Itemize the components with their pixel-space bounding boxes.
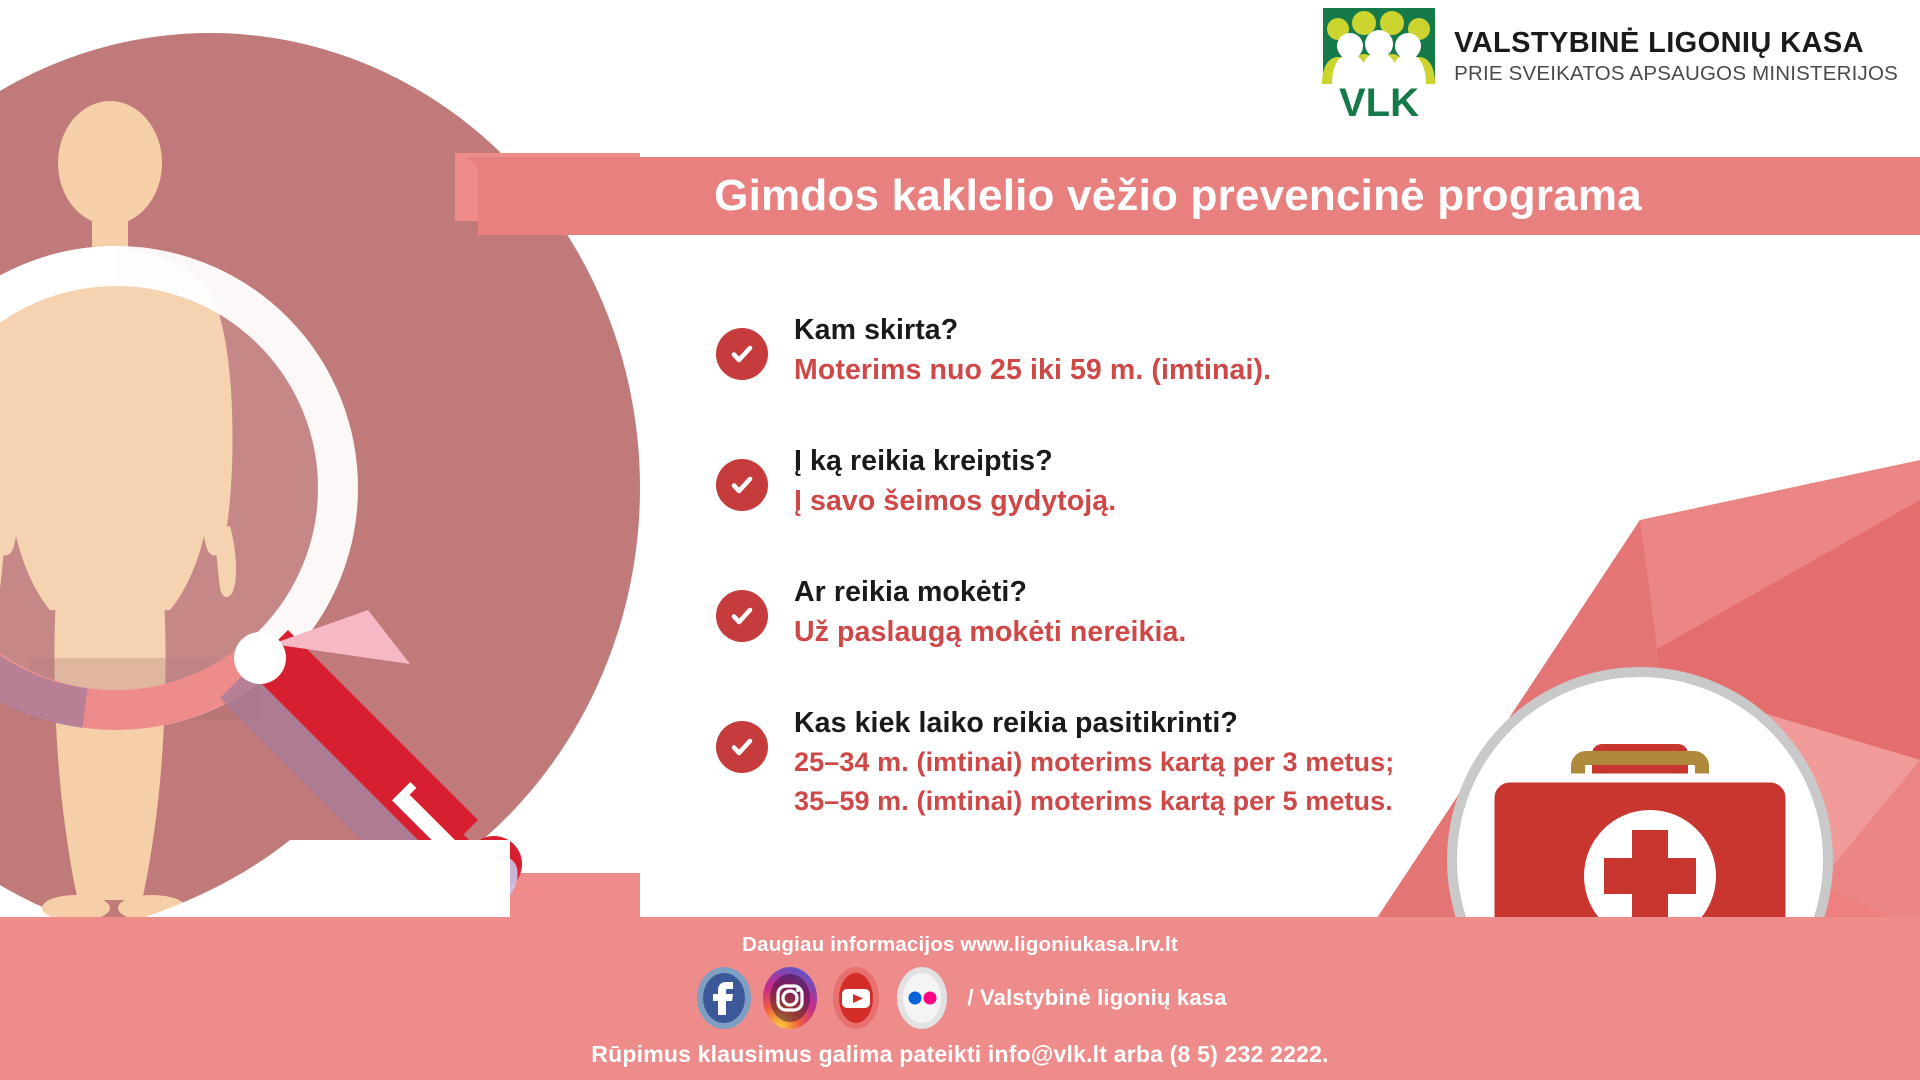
page-title: Gimdos kaklelio vėžio prevencinė program… [478,157,1878,235]
item-question: Į ką reikia kreiptis? [794,441,1836,481]
logo-subtitle: PRIE SVEIKATOS APSAUGOS MINISTERIJOS [1454,61,1898,87]
info-list: Kam skirta? Moterims nuo 25 iki 59 m. (i… [716,310,1836,820]
item-question: Kam skirta? [794,310,1836,350]
item-question: Kas kiek laiko reikia pasitikrinti? [794,703,1836,743]
check-circle-icon [716,590,768,642]
item-answer: 25–34 m. (imtinai) moterims kartą per 3 … [794,743,1836,781]
item-answer: Moterims nuo 25 iki 59 m. (imtinai). [794,350,1836,390]
logo-title: VALSTYBINĖ LIGONIŲ KASA [1454,28,1898,58]
facebook-icon[interactable] [693,967,755,1029]
check-circle-icon [716,459,768,511]
poster-root: VLK VALSTYBINĖ LIGONIŲ KASA PRIE SVEIKAT… [0,0,1920,1080]
item-question: Ar reikia mokėti? [794,572,1836,612]
list-item: Į ką reikia kreiptis? Į savo šeimos gydy… [716,441,1836,522]
vlk-logo-icon: VLK [1320,6,1438,118]
list-item: Ar reikia mokėti? Už paslaugą mokėti ner… [716,572,1836,653]
check-circle-icon [716,328,768,380]
item-answer: Į savo šeimos gydytoją. [794,481,1836,521]
social-handle: / Valstybinė ligonių kasa [967,985,1226,1011]
contact-text: Rūpimus klausimus galima pateikti info@v… [591,1041,1328,1068]
more-info-text: Daugiau informacijos www.ligoniukasa.lrv… [742,933,1178,957]
check-circle-icon [716,721,768,773]
instagram-icon[interactable] [759,967,821,1029]
footer-content: Daugiau informacijos www.ligoniukasa.lrv… [0,917,1920,1080]
list-item: Kam skirta? Moterims nuo 25 iki 59 m. (i… [716,310,1836,391]
logo-acronym: VLK [1339,81,1419,118]
list-item: Kas kiek laiko reikia pasitikrinti? 25–3… [716,703,1836,820]
vlk-logo-block: VLK VALSTYBINĖ LIGONIŲ KASA PRIE SVEIKAT… [1320,6,1898,118]
item-answer: 35–59 m. (imtinai) moterims kartą per 5 … [794,782,1836,820]
flickr-icon[interactable] [891,967,953,1029]
item-answer: Už paslaugą mokėti nereikia. [794,612,1836,652]
youtube-icon[interactable] [825,967,887,1029]
social-links: / Valstybinė ligonių kasa [693,967,1226,1029]
